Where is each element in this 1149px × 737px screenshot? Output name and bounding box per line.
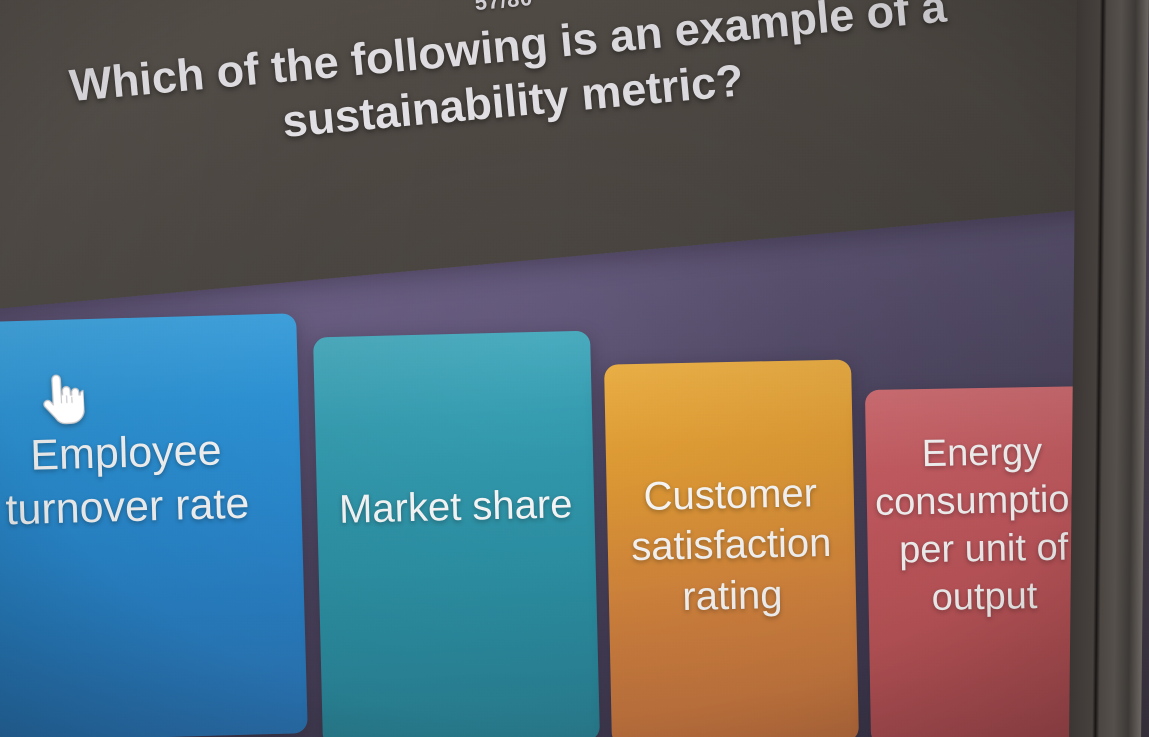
question-banner-content: 57/80 Which of the following is an examp… bbox=[5, 0, 1014, 174]
screen-right-bezel bbox=[1069, 0, 1149, 737]
answer-label: Energy consumption per unit of output bbox=[866, 428, 1101, 624]
answer-label: Customer satisfaction rating bbox=[606, 467, 856, 623]
answer-energy-consumption-per-unit-of-output[interactable]: Energy consumption per unit of output bbox=[865, 386, 1103, 737]
pointing-hand-cursor-icon bbox=[35, 371, 86, 429]
answer-customer-satisfaction-rating[interactable]: Customer satisfaction rating bbox=[604, 359, 859, 737]
answer-market-share[interactable]: Market share bbox=[313, 331, 600, 737]
answer-label: Employee turnover rate bbox=[0, 421, 302, 539]
answer-label: Market share bbox=[332, 479, 579, 535]
projected-quiz-screen: 57/80 Which of the following is an examp… bbox=[0, 0, 1149, 737]
